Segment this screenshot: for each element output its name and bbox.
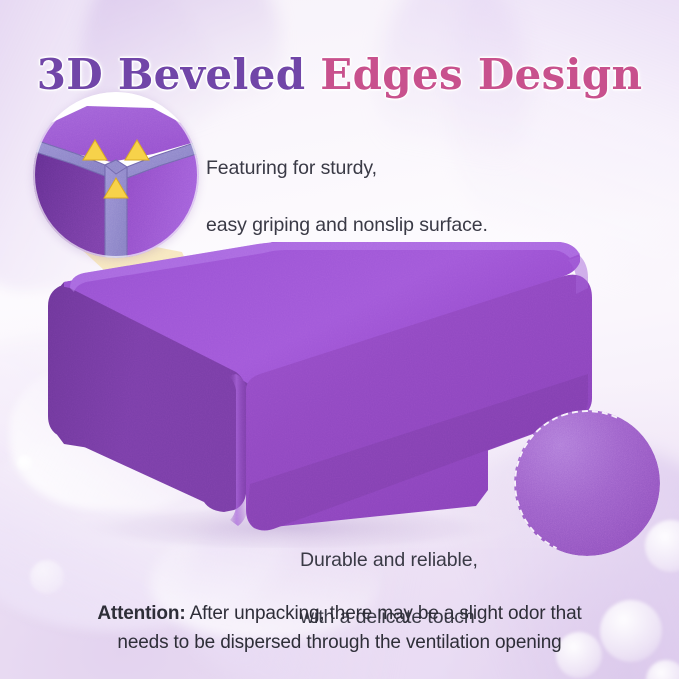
attention-label: Attention: (97, 603, 185, 624)
foam-texture-swatch (514, 410, 660, 556)
product-infographic: 3D Beveled Edges Design Featuring for st… (0, 0, 679, 679)
attention-line-1: Attention: After unpacking, there may be… (0, 600, 679, 629)
title-part-purple: 3D Beveled (37, 50, 321, 99)
attention-line-2: needs to be dispersed through the ventil… (0, 629, 679, 658)
beveled-corner-magnifier (33, 92, 199, 258)
attention-note: Attention: After unpacking, there may be… (0, 600, 679, 657)
magnifier-svg (33, 92, 199, 258)
callout-featuring-line1: Featuring for sturdy, (206, 154, 488, 182)
attention-line1-rest: After unpacking, there may be a slight o… (186, 603, 582, 624)
callout-featuring: Featuring for sturdy, easy griping and n… (206, 126, 488, 268)
page-title: 3D Beveled Edges Design (0, 50, 679, 99)
callout-featuring-line2: easy griping and nonslip surface. (206, 211, 488, 239)
title-part-pink: Edges Design (320, 50, 642, 99)
callout-durable-line1: Durable and reliable, (300, 546, 478, 574)
swatch-dashed-ring (514, 410, 660, 556)
